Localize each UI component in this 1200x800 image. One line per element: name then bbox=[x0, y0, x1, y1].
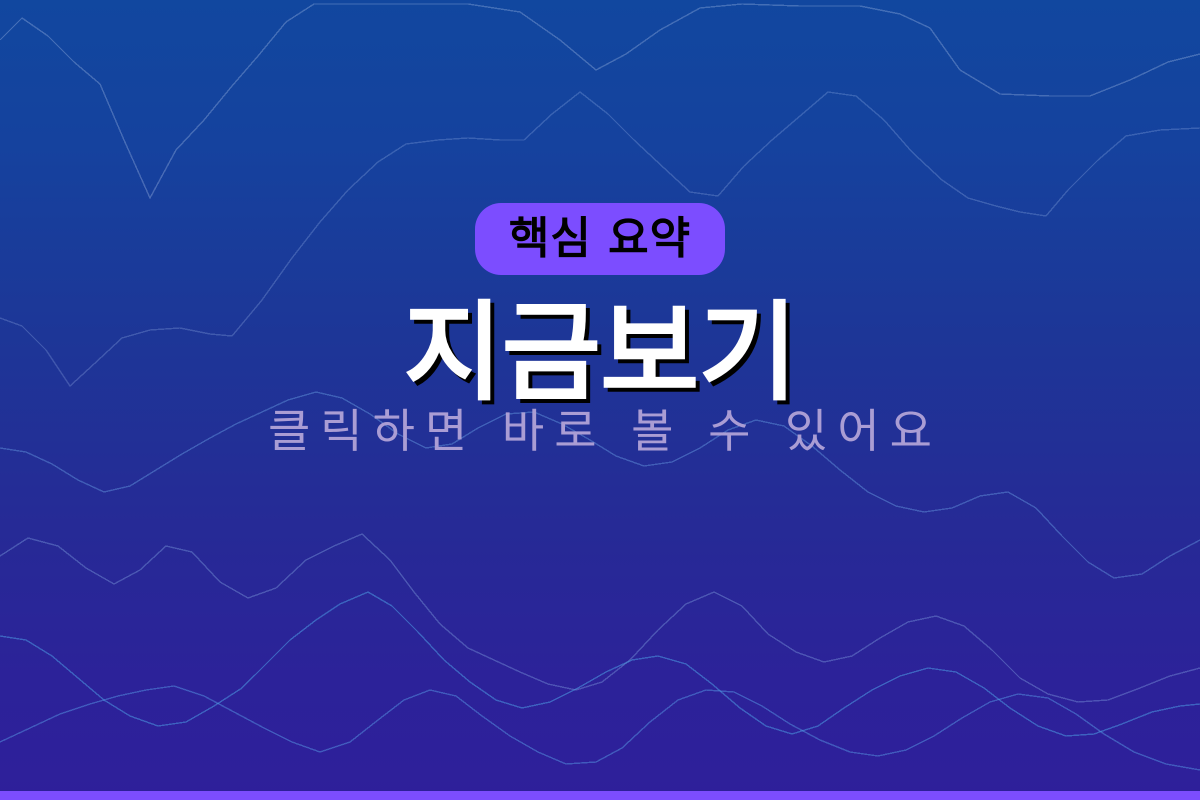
summary-badge: 핵심 요약 bbox=[475, 203, 725, 275]
page-title: 지금보기 bbox=[403, 297, 796, 410]
thumbnail-canvas: 핵심 요약 지금보기 클릭하면 바로 볼 수 있어요 bbox=[0, 0, 1200, 800]
content-stack: 핵심 요약 지금보기 클릭하면 바로 볼 수 있어요 bbox=[0, 0, 1200, 800]
bottom-accent-bar bbox=[0, 791, 1200, 800]
page-subtitle: 클릭하면 바로 볼 수 있어요 bbox=[258, 404, 942, 459]
